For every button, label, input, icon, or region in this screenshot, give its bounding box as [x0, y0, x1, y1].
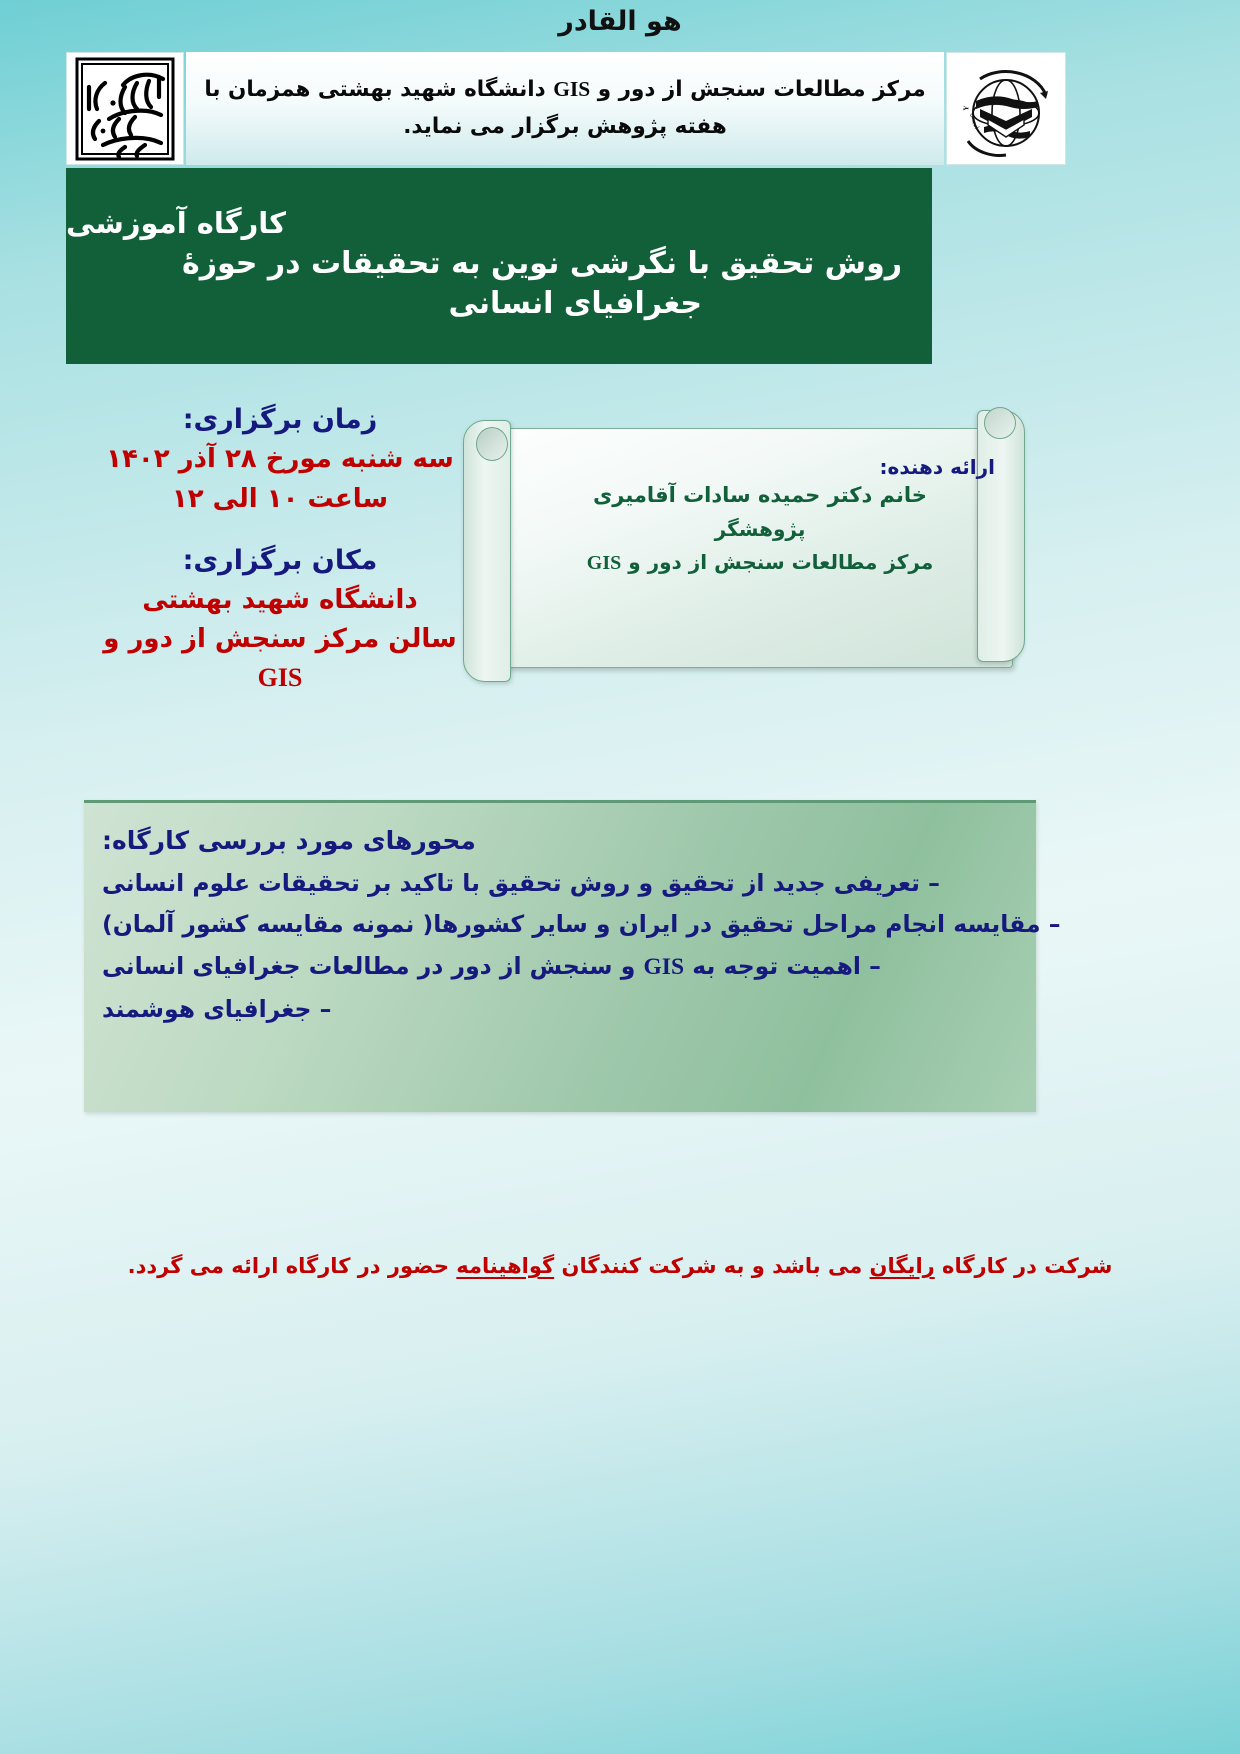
footer-free-word: رایگان — [870, 1254, 935, 1278]
presenter-label: ارائه دهنده: — [525, 456, 995, 478]
presenter-role: پژوهشگر — [525, 517, 995, 541]
presenter-details: ارائه دهنده: خانم دکتر حمیده سادات آقامی… — [525, 456, 995, 575]
footer-part-1: شرکت در کارگاه — [935, 1254, 1113, 1278]
presenter-affiliation: مرکز مطالعات سنجش از دور و GIS — [525, 550, 995, 575]
event-hours: ساعت ۱۰ الی ۱۲ — [80, 481, 480, 519]
topic-item-3-suffix: و سنجش از دور در مطالعات جغرافیای انسانی — [102, 952, 644, 980]
workshop-topics-box: محورهای مورد بررسی کارگاه: – تعریفی جدید… — [84, 800, 1036, 1112]
topic-item-1: – تعریفی جدید از تحقیق و روش تحقیق با تا… — [102, 868, 940, 900]
basmala-text: هو القادر — [0, 6, 1240, 37]
topic-item-2: – مقایسه انجام مراحل تحقیق در ایران و سا… — [102, 909, 1060, 941]
shahid-beheshti-university-logo — [66, 52, 184, 165]
header-line1-gis: GIS — [553, 77, 590, 101]
presenter-affiliation-gis: GIS — [587, 552, 621, 574]
presenter-scroll-panel: ارائه دهنده: خانم دکتر حمیده سادات آقامی… — [455, 420, 1025, 680]
footer-note: شرکت در کارگاه رایگان می باشد و به شرکت … — [0, 1252, 1240, 1281]
sbu-logo-icon — [75, 57, 175, 161]
iranian-rs-gis-society-logo: IRANIAN RS & GIS SOCIETY انجمن سنجش از د… — [946, 52, 1066, 165]
topic-item-3-prefix: – اهمیت توجه به — [684, 952, 881, 980]
topic-item-4: – جغرافیای هوشمند — [102, 994, 331, 1026]
header-line1-part-a: مرکز مطالعات سنجش از دور و — [590, 77, 925, 102]
workshop-title-banner: کارگاه آموزشی روش تحقیق با نگرشی نوین به… — [66, 168, 932, 364]
event-place-line-1: دانشگاه شهید بهشتی — [80, 582, 480, 620]
topic-item-3: – اهمیت توجه به GIS و سنجش از دور در مطا… — [102, 951, 881, 984]
workshop-title-line-2: جغرافیای انسانی — [66, 287, 902, 320]
event-place-label: مکان برگزاری: — [80, 541, 480, 580]
event-info-block: زمان برگزاری: سه شنبه مورخ ۲۸ آذر ۱۴۰۲ س… — [80, 400, 480, 698]
topics-title: محورهای مورد بررسی کارگاه: — [102, 825, 476, 858]
svg-text:IRANIAN RS & GIS SOCIETY: IRANIAN RS & GIS SOCIETY — [954, 57, 971, 111]
footer-part-2: می باشد و به شرکت کنندگان — [554, 1254, 869, 1278]
presenter-affiliation-text: مرکز مطالعات سنجش از دور و — [621, 550, 933, 574]
header-line-2: هفته پژوهش برگزار می نماید. — [403, 115, 727, 140]
scroll-left-knob — [476, 427, 508, 461]
scroll-left-curl — [463, 420, 511, 682]
topic-item-3-gis: GIS — [644, 954, 685, 980]
svg-text:انجمن سنجش از دور و GIS ایران: انجمن سنجش از دور و GIS ایران — [954, 57, 981, 130]
event-place-line2-gis: GIS — [258, 663, 303, 692]
event-place-line2-text: سالن مرکز سنجش از دور و — [103, 624, 457, 654]
header-line-1: مرکز مطالعات سنجش از دور و GIS دانشگاه ش… — [204, 77, 925, 103]
globe-society-emblem-icon: IRANIAN RS & GIS SOCIETY انجمن سنجش از د… — [954, 57, 1058, 161]
workshop-title-line-1: روش تحقیق با نگرشی نوین به تحقیقات در حو… — [66, 246, 902, 281]
footer-part-3: حضور در کارگاه ارائه می گردد. — [128, 1254, 457, 1278]
scroll-right-knob — [984, 407, 1016, 439]
event-place-line-2: سالن مرکز سنجش از دور و GIS — [80, 621, 480, 697]
header-bar: مرکز مطالعات سنجش از دور و GIS دانشگاه ش… — [66, 52, 1066, 165]
presenter-name: خانم دکتر حمیده سادات آقامیری — [525, 483, 995, 508]
workshop-kicker: کارگاه آموزشی — [66, 208, 286, 240]
event-date: سه شنبه مورخ ۲۸ آذر ۱۴۰۲ — [80, 441, 480, 479]
header-line1-part-b: دانشگاه شهید بهشتی همزمان با — [204, 77, 553, 102]
footer-certificate-word: گواهینامه — [456, 1254, 554, 1278]
info-spacer — [80, 521, 480, 539]
header-announcement: مرکز مطالعات سنجش از دور و GIS دانشگاه ش… — [186, 52, 944, 165]
event-time-label: زمان برگزاری: — [80, 400, 480, 439]
poster-root: هو القادر — [0, 0, 1240, 1754]
